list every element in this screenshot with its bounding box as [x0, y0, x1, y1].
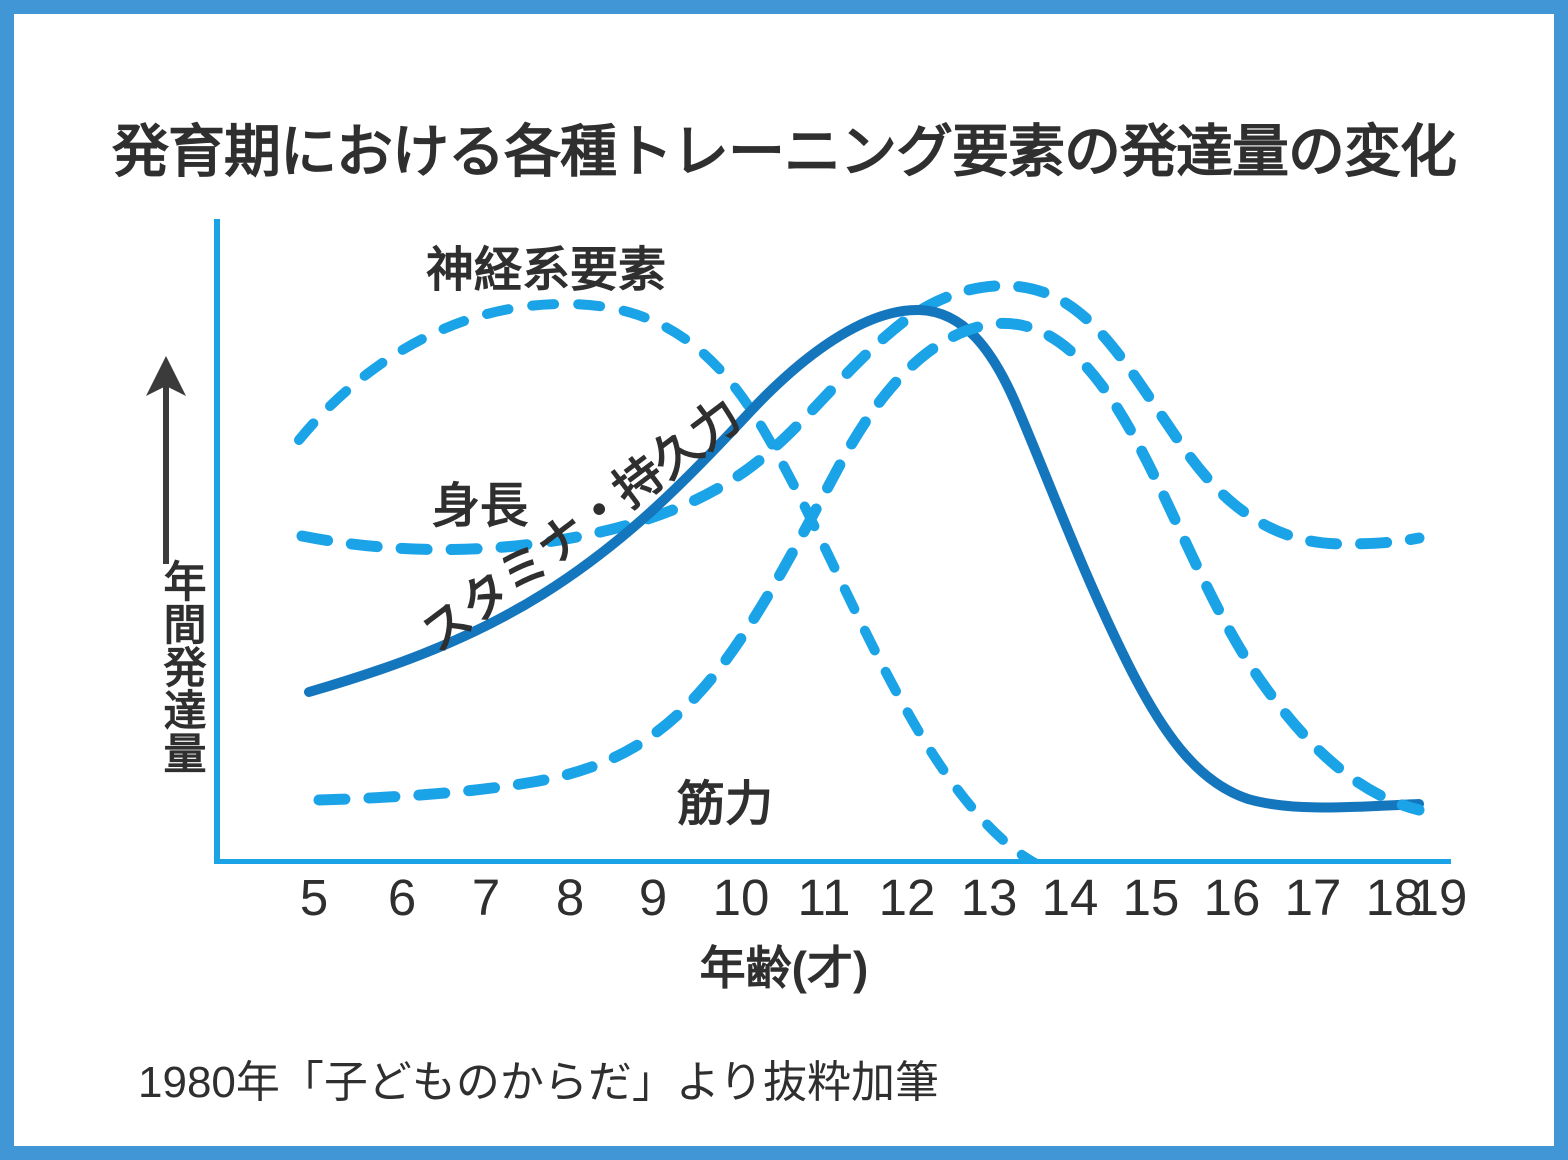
- x-tick-9: 9: [610, 872, 696, 923]
- plot-area: [203, 214, 1453, 864]
- x-tick-17: 17: [1270, 872, 1356, 923]
- x-tick-10: 10: [698, 872, 784, 923]
- x-axis-tick-labels: 5 6 7 8 9 10 11 12 13 14 15 16 17 18 19: [203, 872, 1463, 930]
- y-axis-group: 年間発達量: [122, 354, 210, 824]
- x-tick-6: 6: [359, 872, 445, 923]
- up-arrow-icon: [144, 354, 188, 566]
- x-tick-14: 14: [1027, 872, 1113, 923]
- x-tick-12: 12: [864, 872, 950, 923]
- series-label-muscle: 筋力: [677, 764, 773, 834]
- x-axis-label: 年齢(才): [14, 932, 1554, 998]
- x-tick-16: 16: [1189, 872, 1275, 923]
- x-tick-15: 15: [1108, 872, 1194, 923]
- page-title: 発育期における各種トレーニング要素の発達量の変化: [14, 106, 1554, 188]
- x-tick-5: 5: [271, 872, 357, 923]
- series-label-nerve: 神経系要素: [426, 230, 666, 300]
- x-tick-11: 11: [781, 872, 867, 923]
- source-caption: 1980年「子どものからだ」より抜粋加筆: [138, 1046, 939, 1110]
- x-tick-7: 7: [443, 872, 529, 923]
- chart-canvas: [203, 214, 1453, 864]
- x-tick-19: 19: [1396, 872, 1482, 923]
- chart-page: 発育期における各種トレーニング要素の発達量の変化 年間発達量 5 6 7: [0, 0, 1568, 1160]
- x-tick-8: 8: [527, 872, 613, 923]
- x-tick-13: 13: [946, 872, 1032, 923]
- y-axis-label: 年間発達量: [130, 559, 202, 774]
